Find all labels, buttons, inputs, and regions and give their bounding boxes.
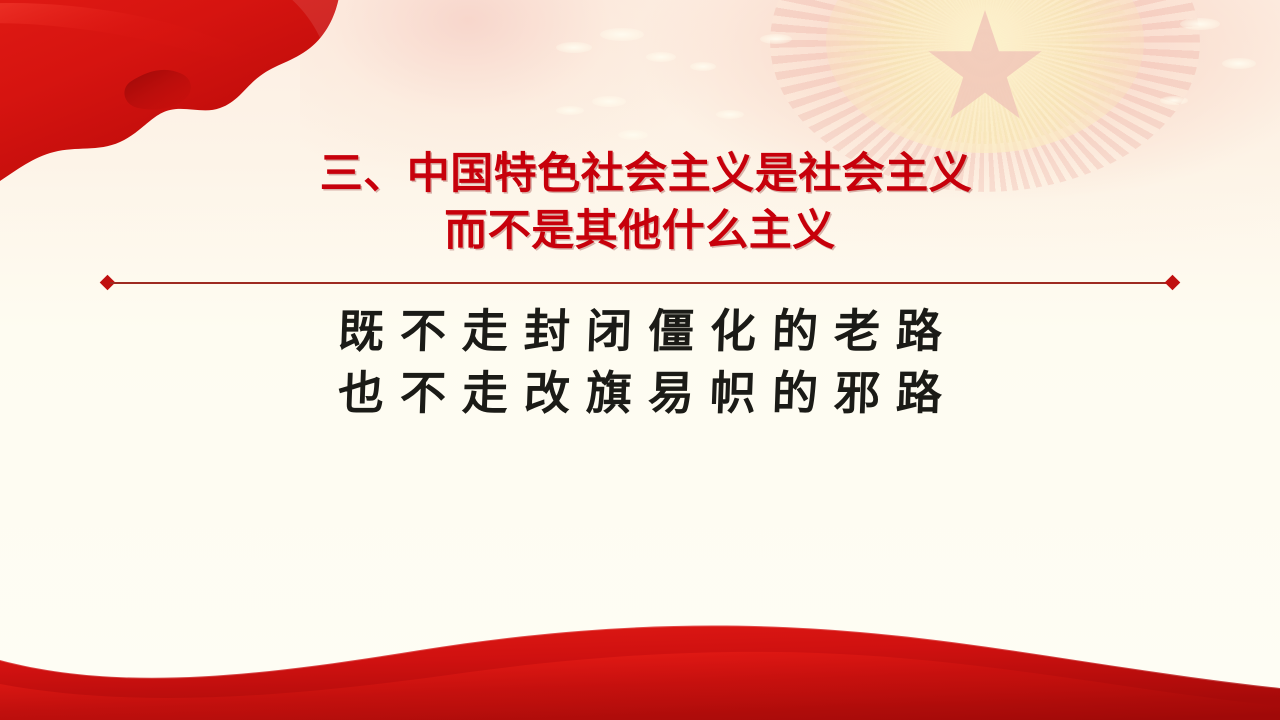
light-dot: [690, 62, 716, 71]
light-dot: [618, 130, 648, 140]
light-dot: [716, 110, 744, 119]
light-dot: [1180, 18, 1220, 30]
body-line-2: 也不走改旗易帜的邪路: [0, 362, 1280, 424]
title-line-2: 而不是其他什么主义: [0, 203, 1280, 260]
red-wave-band-icon: [0, 610, 1280, 720]
slide-title: 三、中国特色社会主义是社会主义 而不是其他什么主义: [0, 146, 1280, 260]
title-line-1: 三、中国特色社会主义是社会主义: [0, 146, 1280, 203]
slide-body: 既不走封闭僵化的老路 也不走改旗易帜的邪路: [0, 300, 1280, 424]
light-dot: [556, 106, 584, 115]
light-dot: [592, 96, 626, 107]
divider: [104, 281, 1176, 284]
divider-bar: [110, 282, 1170, 284]
light-dot: [760, 34, 792, 44]
light-dot: [646, 52, 676, 62]
light-dot: [1222, 58, 1256, 69]
light-dot: [1160, 96, 1188, 105]
body-line-1: 既不走封闭僵化的老路: [0, 300, 1280, 362]
light-dot: [600, 28, 644, 41]
presentation-slide: 三、中国特色社会主义是社会主义 而不是其他什么主义 既不走封闭僵化的老路 也不走…: [0, 0, 1280, 720]
light-dot: [556, 42, 592, 53]
